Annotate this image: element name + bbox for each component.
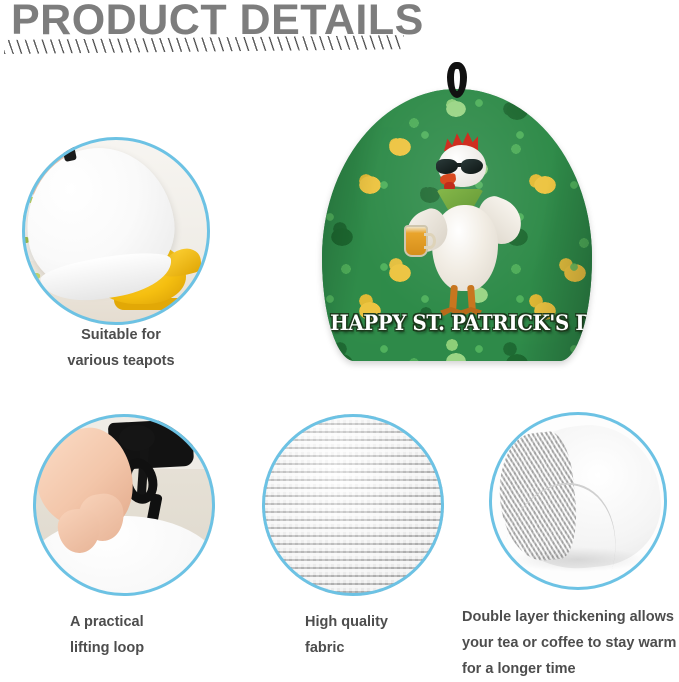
rooster-graphic: [414, 133, 518, 323]
caption-line: for a longer time: [462, 656, 679, 682]
drop-shadow: [510, 547, 645, 572]
panel-lifting-loop-image: [33, 414, 215, 596]
caption-line: Double layer thickening allows: [462, 604, 679, 630]
panel-double-layer-image: [489, 412, 667, 590]
caption-lifting-loop: A practical lifting loop: [70, 609, 250, 661]
tea-cosy-body: HAPPY ST. PATRICK'S DAY: [322, 89, 592, 361]
panel-fabric-image: [262, 414, 444, 596]
caption-double-layer: Double layer thickening allows your tea …: [462, 604, 679, 682]
caption-line: lifting loop: [70, 635, 250, 661]
caption-suitable-teapots: Suitable for various teapots: [36, 322, 206, 374]
caption-line: High quality: [305, 609, 475, 635]
panel-suitable-teapots-image: [22, 137, 210, 325]
header: PRODUCT DETAILS: [0, 0, 679, 60]
caption-line: your tea or coffee to stay warm: [462, 630, 679, 656]
fabric-sheen: [262, 414, 444, 596]
hero-product-image: HAPPY ST. PATRICK'S DAY: [318, 62, 596, 367]
caption-line: A practical: [70, 609, 250, 635]
caption-high-quality-fabric: High quality fabric: [305, 609, 475, 661]
caption-line: various teapots: [36, 348, 206, 374]
wall-hook-knob: [119, 425, 155, 451]
sunglasses-right-lens: [461, 159, 483, 174]
sunglasses-icon: [436, 159, 488, 174]
beer-mug-handle: [424, 233, 436, 249]
caption-line: fabric: [305, 635, 475, 661]
caption-line: Suitable for: [36, 322, 206, 348]
hero-slogan: HAPPY ST. PATRICK'S DAY: [330, 310, 584, 335]
sunglasses-left-lens: [436, 159, 458, 174]
